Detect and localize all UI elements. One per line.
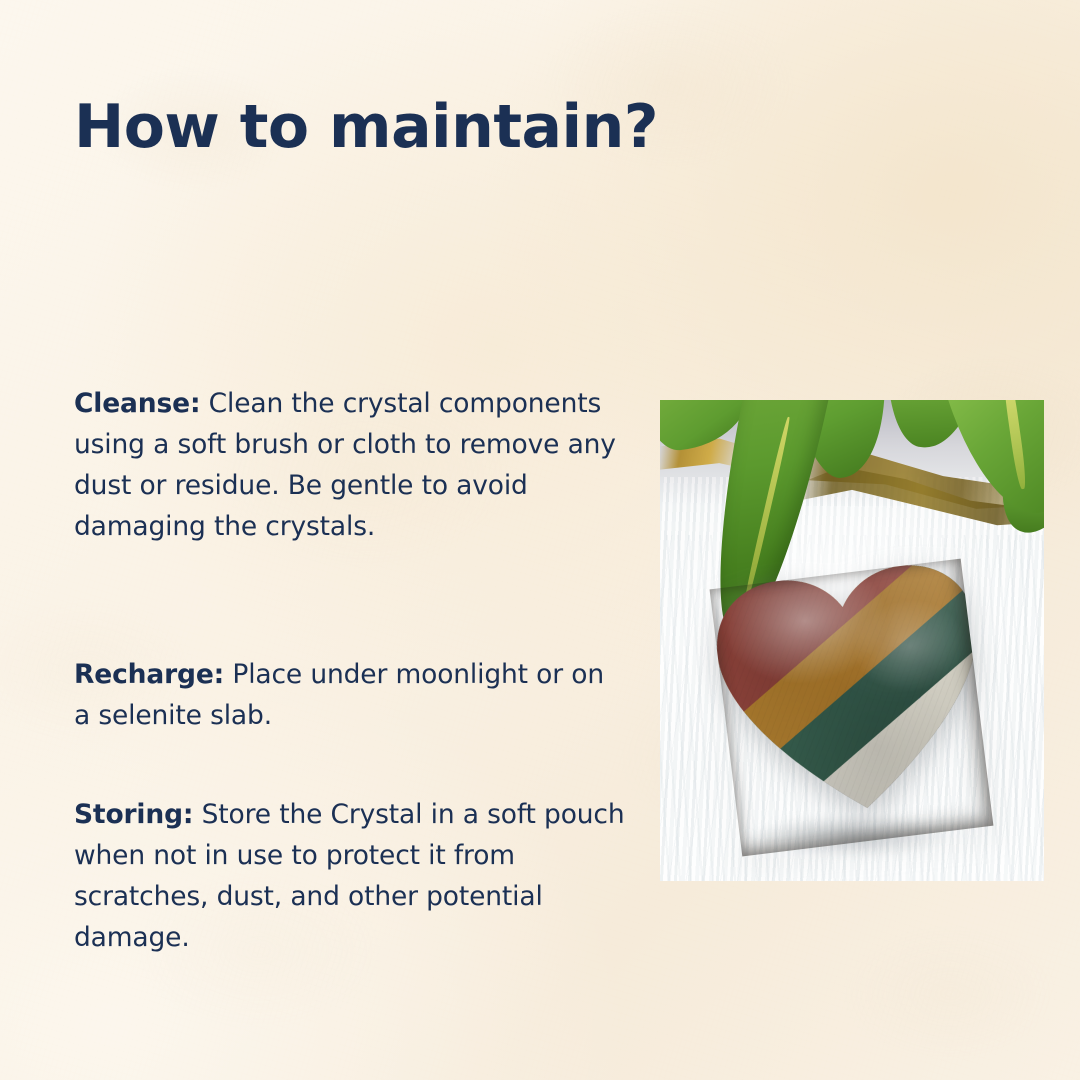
body-copy-column: Cleanse: Clean the crystal components us… bbox=[74, 383, 626, 958]
product-photo-inner bbox=[660, 400, 1044, 881]
product-photo bbox=[660, 400, 1044, 881]
heart-edge-shading bbox=[710, 559, 994, 857]
page-title: How to maintain? bbox=[74, 96, 658, 159]
paragraph-recharge-lead: Recharge: bbox=[74, 659, 224, 690]
leaf-vein bbox=[1001, 400, 1028, 490]
paragraph-recharge: Recharge: Place under moonlight or on a … bbox=[74, 654, 626, 736]
paragraph-cleanse-lead: Cleanse: bbox=[74, 388, 200, 419]
paragraph-storing: Storing: Store the Crystal in a soft pou… bbox=[74, 794, 626, 958]
poster-canvas: How to maintain? Cleanse: Clean the crys… bbox=[0, 0, 1080, 1080]
paragraph-cleanse: Cleanse: Clean the crystal components us… bbox=[74, 383, 626, 547]
paragraph-storing-lead: Storing: bbox=[74, 799, 193, 830]
chakra-heart-crystal bbox=[710, 559, 994, 857]
